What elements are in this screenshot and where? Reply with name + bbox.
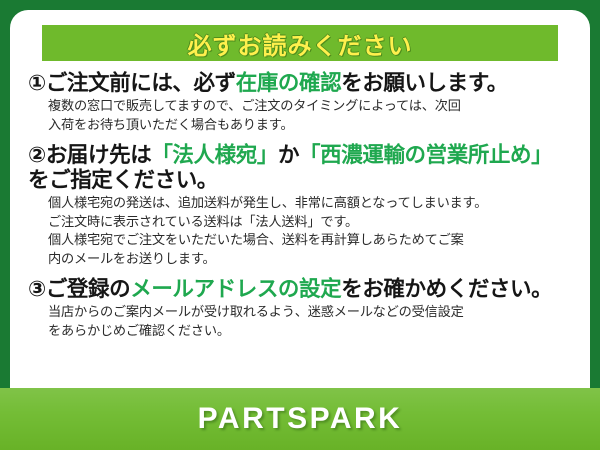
notice-item-2-body: 個人様宅宛の発送は、追加送料が発生し、非常に高額となってしまいます。 ご注文時に… bbox=[28, 195, 572, 270]
header-bar: 必ずお読みください bbox=[42, 25, 558, 61]
notice-item-1: ①ご注文前には、必ず在庫の確認をお願いします。 複数の窓口で販売してますので、ご… bbox=[28, 71, 572, 136]
notice-item-3-body-line-2: をあらかじめご確認ください。 bbox=[48, 323, 572, 342]
notice-item-3-heading: ③ご登録のメールアドレスの設定をお確かめください。 bbox=[28, 277, 572, 302]
notice-item-3-heading-highlight: メールアドレスの設定 bbox=[130, 277, 341, 302]
page-title: 必ずお読みください bbox=[188, 26, 413, 61]
notice-item-3-heading-post: をお確かめください。 bbox=[341, 277, 552, 302]
notice-item-2-heading: ②お届け先は「法人様宛」か「西濃運輸の営業所止め」 bbox=[28, 143, 572, 168]
footer-bar: PARTSPARK bbox=[0, 388, 600, 450]
notice-item-1-heading-highlight: 在庫の確認 bbox=[236, 71, 342, 96]
notice-item-2-heading-line2: をご指定ください。 bbox=[28, 168, 572, 193]
notice-item-2-marker: ② bbox=[28, 143, 46, 168]
notice-item-2-heading-highlight-2: 「西濃運輸の営業所止め」 bbox=[299, 143, 552, 168]
notice-item-3-body-line-1: 当店からのご案内メールが受け取れるよう、迷惑メールなどの受信設定 bbox=[48, 304, 572, 323]
notice-item-2-body-line-4: 内のメールをお送りします。 bbox=[48, 251, 572, 270]
notice-item-3-marker: ③ bbox=[28, 277, 46, 302]
notice-item-2-body-line-1: 個人様宅宛の発送は、追加送料が発生し、非常に高額となってしまいます。 bbox=[48, 195, 572, 214]
notice-items-list: ①ご注文前には、必ず在庫の確認をお願いします。 複数の窓口で販売してますので、ご… bbox=[26, 71, 574, 341]
notice-item-2-body-line-2: ご注文時に表示されている送料は「法人送料」です。 bbox=[48, 214, 572, 233]
notice-item-2-body-line-3: 個人様宅宛でご注文をいただいた場合、送料を再計算しあらためてご案 bbox=[48, 232, 572, 251]
notice-item-3-heading-pre: ご登録の bbox=[46, 277, 130, 302]
notice-item-1-heading: ①ご注文前には、必ず在庫の確認をお願いします。 bbox=[28, 71, 572, 96]
notice-item-1-body: 複数の窓口で販売してますので、ご注文のタイミングによっては、次回 入荷をお待ち頂… bbox=[28, 98, 572, 135]
notice-item-1-body-line-1: 複数の窓口で販売してますので、ご注文のタイミングによっては、次回 bbox=[48, 98, 572, 117]
notice-item-1-body-line-2: 入荷をお待ち頂いただく場合もあります。 bbox=[48, 117, 572, 136]
notice-item-2-heading-pre: お届け先は bbox=[46, 143, 152, 168]
notice-banner: 必ずお読みください ①ご注文前には、必ず在庫の確認をお願いします。 複数の窓口で… bbox=[0, 0, 600, 450]
notice-item-3: ③ご登録のメールアドレスの設定をお確かめください。 当店からのご案内メールが受け… bbox=[28, 277, 572, 342]
notice-item-1-marker: ① bbox=[28, 71, 46, 96]
brand-logo: PARTSPARK bbox=[198, 402, 403, 436]
notice-item-1-heading-pre: ご注文前には、必ず bbox=[46, 71, 236, 96]
notice-card: 必ずお読みください ①ご注文前には、必ず在庫の確認をお願いします。 複数の窓口で… bbox=[10, 10, 590, 410]
notice-item-3-body: 当店からのご案内メールが受け取れるよう、迷惑メールなどの受信設定 をあらかじめご… bbox=[28, 304, 572, 341]
notice-item-2-heading-mid: か bbox=[278, 143, 299, 168]
notice-item-2-heading-highlight: 「法人様宛」 bbox=[151, 143, 278, 168]
notice-item-2: ②お届け先は「法人様宛」か「西濃運輸の営業所止め」 をご指定ください。 個人様宅… bbox=[28, 143, 572, 270]
notice-item-1-heading-post: をお願いします。 bbox=[341, 71, 508, 96]
